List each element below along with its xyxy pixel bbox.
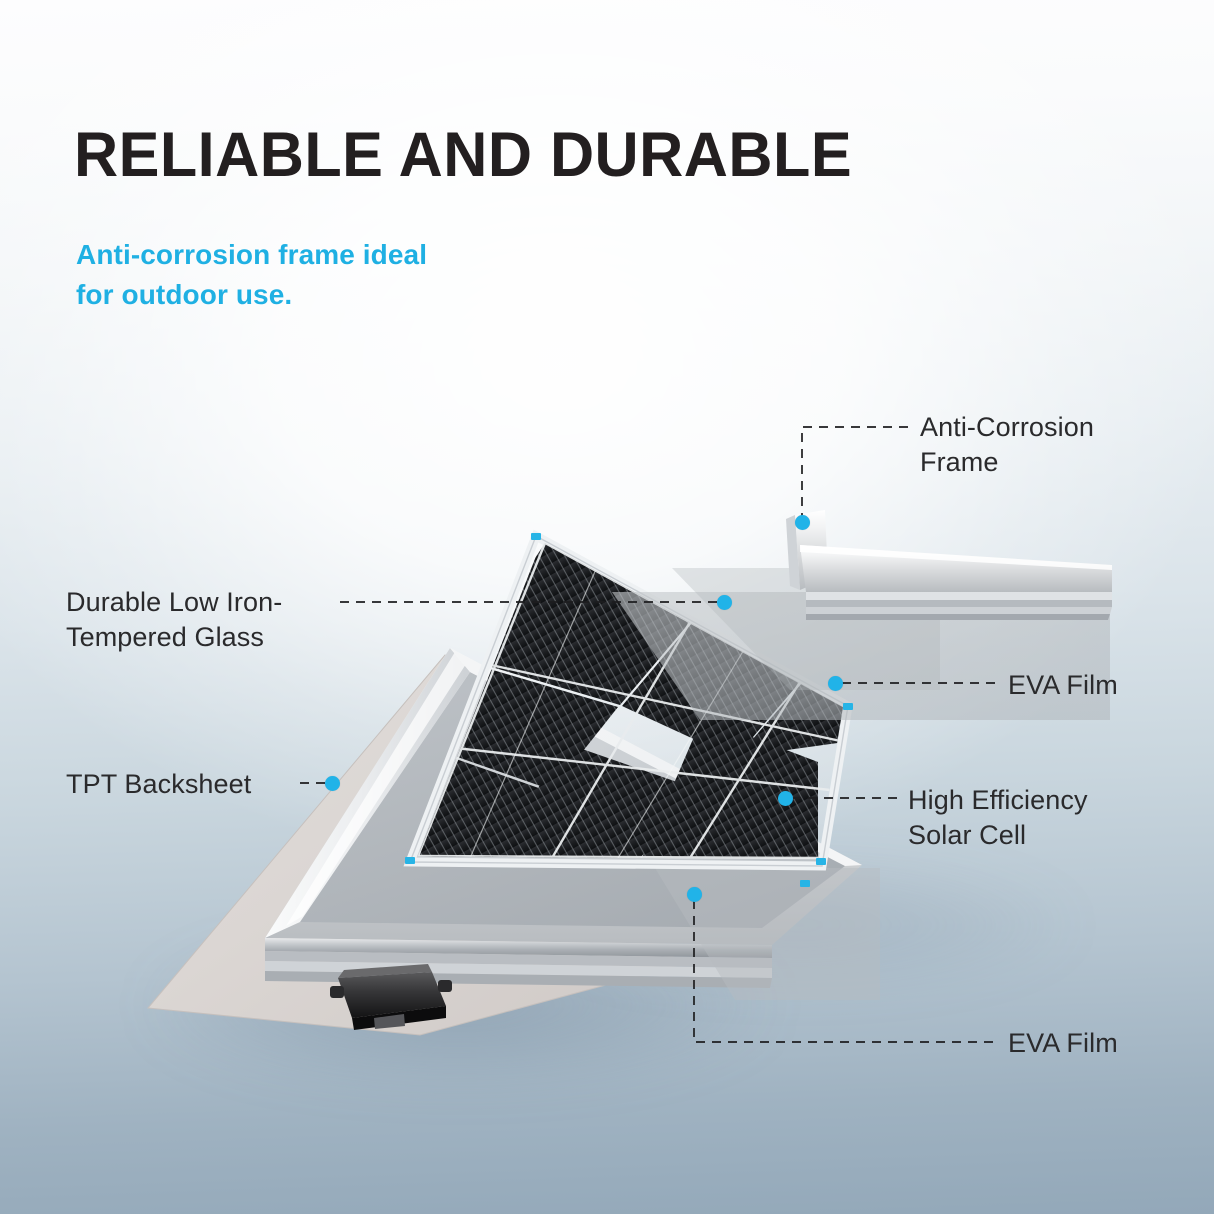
anchor-dot-eva-film-bottom — [687, 887, 702, 902]
corner-marker-bottom — [816, 858, 826, 865]
anchor-dot-high-efficiency-solar-cell — [778, 791, 793, 806]
anchor-dot-eva-film-top — [828, 676, 843, 691]
callout-label-high-efficiency-solar-cell: High Efficiency Solar Cell — [908, 783, 1088, 852]
anchor-dot-anti-corrosion-frame — [795, 515, 810, 530]
corner-marker-frame-inner — [800, 880, 810, 887]
page-title: RELIABLE AND DURABLE — [74, 124, 852, 187]
callout-label-tpt-backsheet: TPT Backsheet — [66, 767, 251, 802]
page-subtitle: Anti-corrosion frame ideal for outdoor u… — [76, 235, 427, 315]
callout-label-eva-film-top: EVA Film — [1008, 668, 1118, 703]
corner-marker-right — [843, 703, 853, 710]
corner-marker-top — [531, 533, 541, 540]
anchor-dot-tpt-backsheet — [325, 776, 340, 791]
callout-label-durable-low-iron-tempered-glass: Durable Low Iron- Tempered Glass — [66, 585, 282, 654]
corner-marker-left — [405, 857, 415, 864]
infographic-canvas: RELIABLE AND DURABLE Anti-corrosion fram… — [0, 0, 1214, 1214]
callout-label-anti-corrosion-frame: Anti-Corrosion Frame — [920, 410, 1094, 479]
anti-corrosion-frame-piece — [786, 510, 1112, 620]
anchor-dot-durable-low-iron-tempered-glass — [717, 595, 732, 610]
callout-label-eva-film-bottom: EVA Film — [1008, 1026, 1118, 1061]
